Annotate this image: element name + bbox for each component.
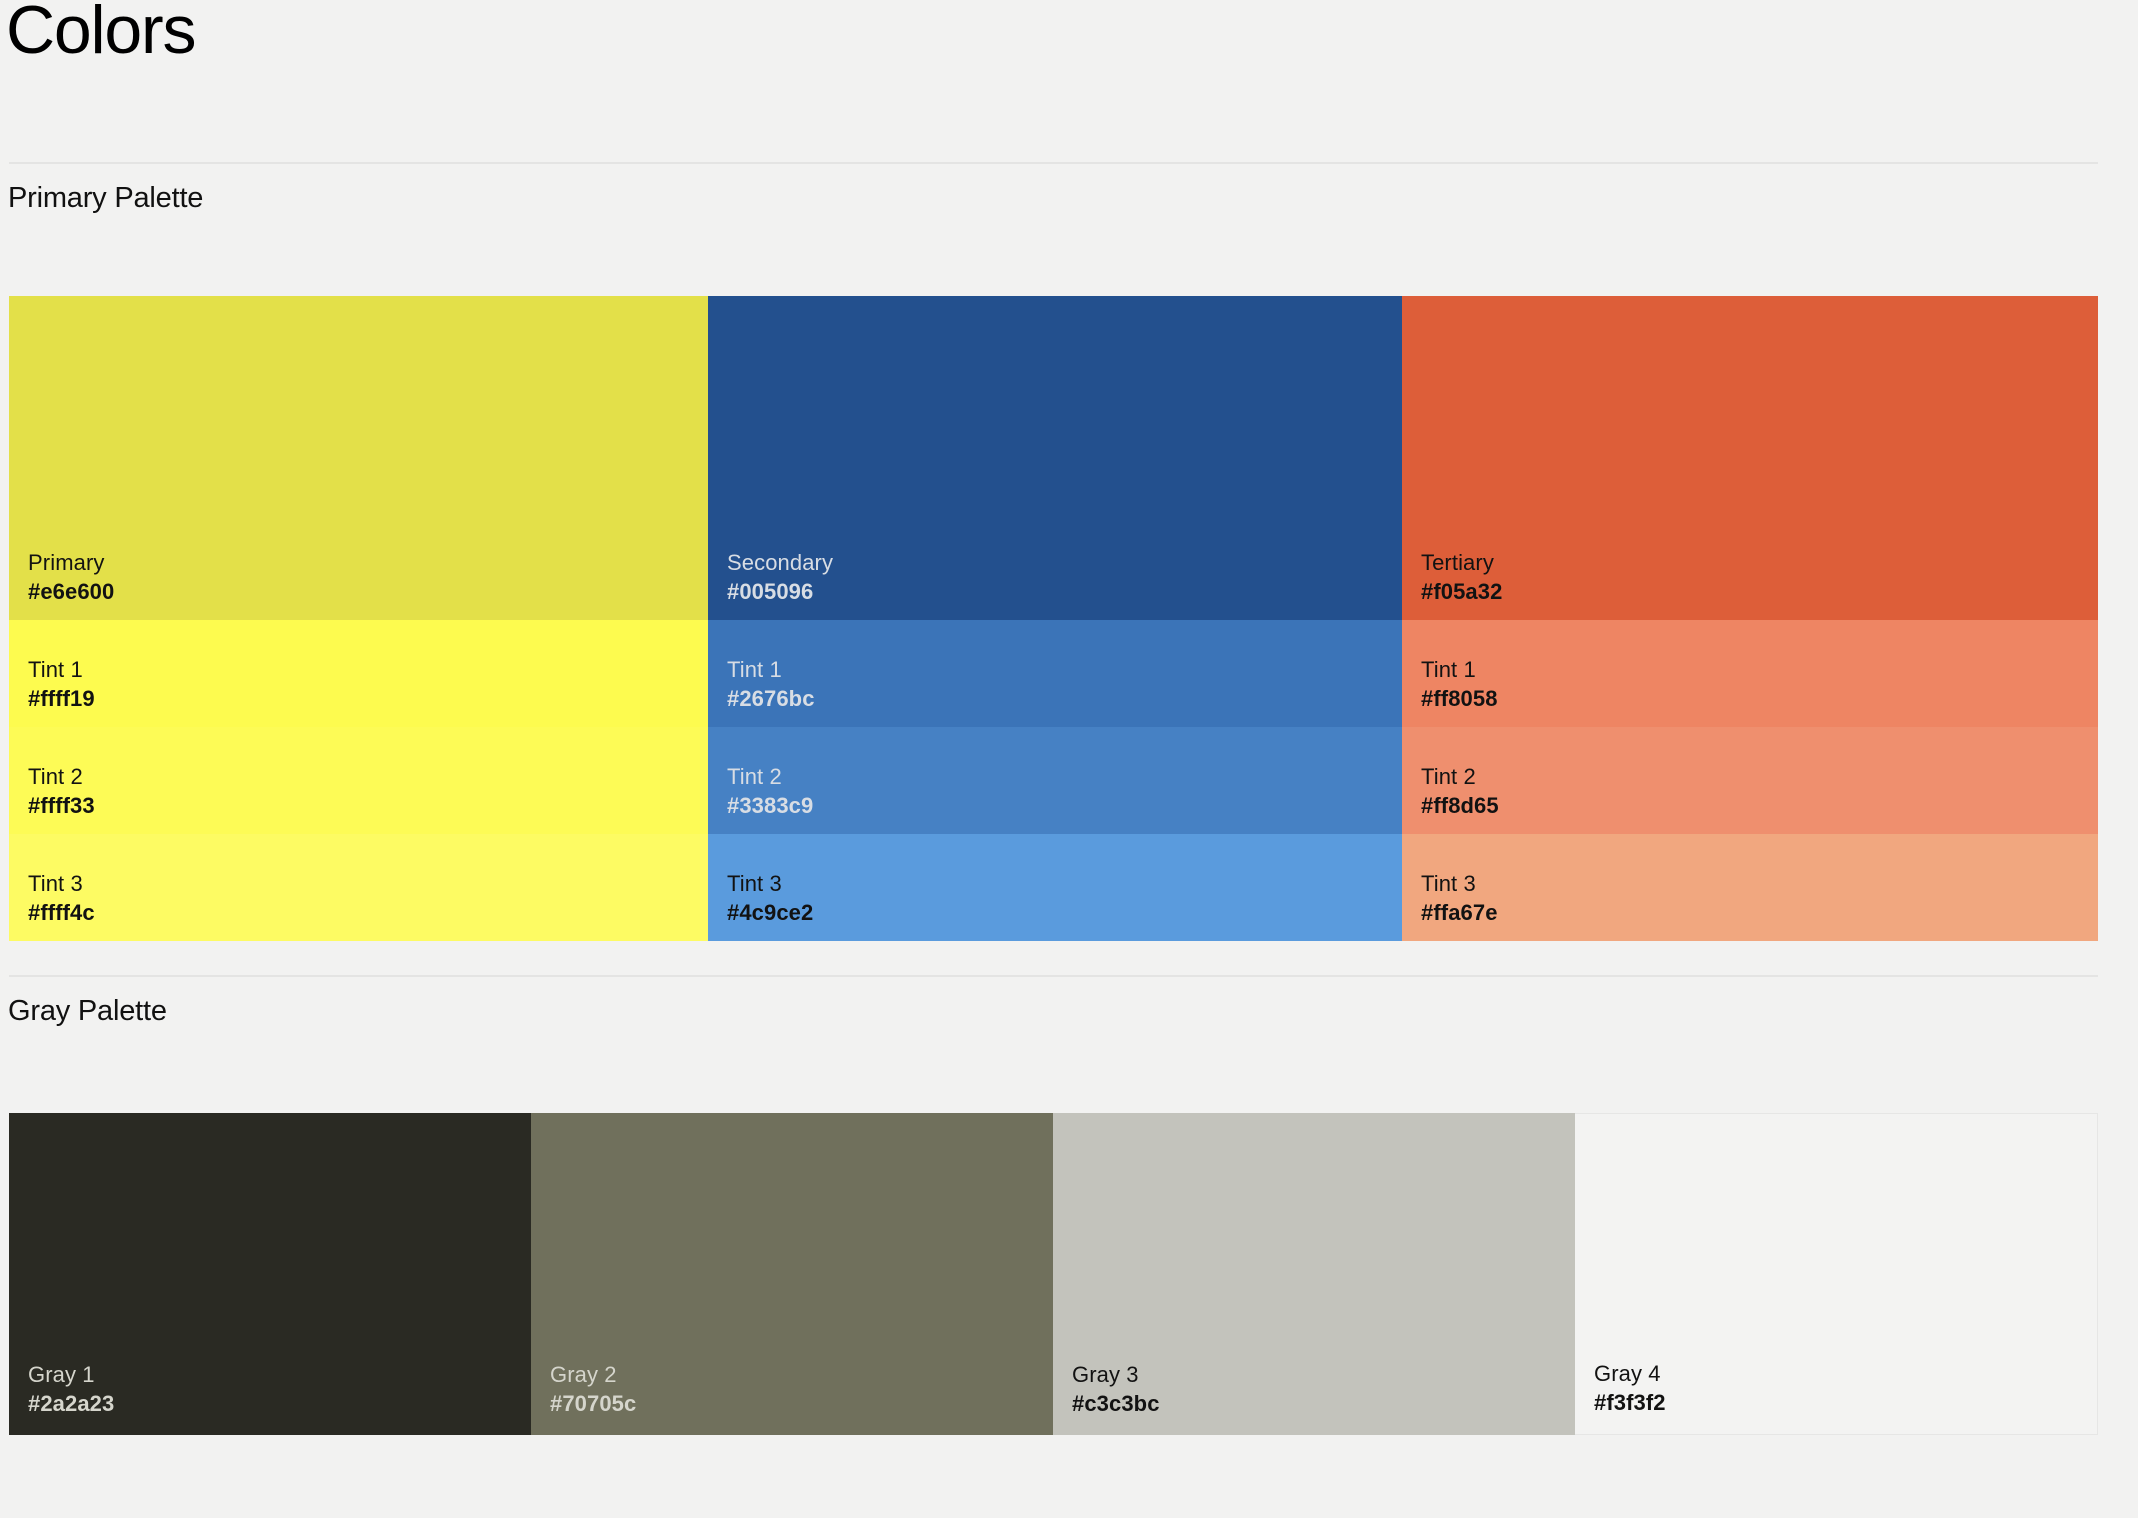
color-swatch-primary-tint-1[interactable]: Tint 1#ffff19: [9, 620, 708, 727]
swatch-hex-value: #2a2a23: [28, 1389, 531, 1418]
palette-column-secondary: Secondary#005096Tint 1#2676bcTint 2#3383…: [708, 296, 1402, 941]
color-swatch-secondary-tint-2[interactable]: Tint 2#3383c9: [708, 727, 1402, 834]
color-swatch-gray-1[interactable]: Gray 1#2a2a23: [9, 1113, 531, 1435]
color-swatch-secondary-tint-3[interactable]: Tint 3#4c9ce2: [708, 834, 1402, 941]
swatch-hex-value: #005096: [727, 577, 1402, 606]
swatch-name: Primary: [28, 548, 708, 577]
swatch-name: Tint 3: [28, 869, 708, 898]
swatch-name: Gray 1: [28, 1360, 531, 1389]
swatch-hex-value: #e6e600: [28, 577, 708, 606]
swatch-hex-value: #f3f3f2: [1594, 1388, 2097, 1417]
swatch-name: Tint 3: [727, 869, 1402, 898]
swatch-hex-value: #ff8058: [1421, 684, 2098, 713]
gray-palette-grid: Gray 1#2a2a23Gray 2#70705cGray 3#c3c3bcG…: [9, 1113, 2098, 1435]
divider-top: [9, 162, 2098, 164]
swatch-hex-value: #f05a32: [1421, 577, 2098, 606]
section-heading-primary-palette: Primary Palette: [8, 182, 203, 215]
swatch-name: Tint 3: [1421, 869, 2098, 898]
colors-style-guide-page: Colors Primary Palette Primary#e6e600Tin…: [0, 0, 2138, 1518]
section-heading-gray-palette: Gray Palette: [8, 995, 167, 1028]
color-swatch-secondary-tint-1[interactable]: Tint 1#2676bc: [708, 620, 1402, 727]
color-swatch-primary-tint-2[interactable]: Tint 2#ffff33: [9, 727, 708, 834]
swatch-name: Tint 1: [1421, 655, 2098, 684]
color-swatch-gray-2[interactable]: Gray 2#70705c: [531, 1113, 1053, 1435]
color-swatch-primary-base[interactable]: Primary#e6e600: [9, 296, 708, 620]
swatch-name: Gray 2: [550, 1360, 1053, 1389]
color-swatch-gray-3[interactable]: Gray 3#c3c3bc: [1053, 1113, 1575, 1435]
swatch-name: Tint 2: [28, 762, 708, 791]
swatch-name: Tint 2: [1421, 762, 2098, 791]
swatch-name: Secondary: [727, 548, 1402, 577]
swatch-name: Tertiary: [1421, 548, 2098, 577]
swatch-hex-value: #4c9ce2: [727, 898, 1402, 927]
palette-column-primary: Primary#e6e600Tint 1#ffff19Tint 2#ffff33…: [9, 296, 708, 941]
swatch-hex-value: #ffa67e: [1421, 898, 2098, 927]
swatch-hex-value: #ffff19: [28, 684, 708, 713]
swatch-hex-value: #ffff4c: [28, 898, 708, 927]
swatch-name: Tint 2: [727, 762, 1402, 791]
color-swatch-gray-4[interactable]: Gray 4#f3f3f2: [1575, 1113, 2098, 1435]
color-swatch-tertiary-tint-3[interactable]: Tint 3#ffa67e: [1402, 834, 2098, 941]
swatch-name: Gray 3: [1072, 1360, 1575, 1389]
swatch-hex-value: #c3c3bc: [1072, 1389, 1575, 1418]
swatch-hex-value: #3383c9: [727, 791, 1402, 820]
color-swatch-primary-tint-3[interactable]: Tint 3#ffff4c: [9, 834, 708, 941]
swatch-hex-value: #70705c: [550, 1389, 1053, 1418]
color-swatch-tertiary-base[interactable]: Tertiary#f05a32: [1402, 296, 2098, 620]
page-title: Colors: [6, 0, 195, 64]
swatch-name: Tint 1: [28, 655, 708, 684]
swatch-name: Tint 1: [727, 655, 1402, 684]
swatch-hex-value: #ff8d65: [1421, 791, 2098, 820]
color-swatch-tertiary-tint-2[interactable]: Tint 2#ff8d65: [1402, 727, 2098, 834]
palette-column-tertiary: Tertiary#f05a32Tint 1#ff8058Tint 2#ff8d6…: [1402, 296, 2098, 941]
divider-middle: [9, 975, 2098, 977]
swatch-name: Gray 4: [1594, 1359, 2097, 1388]
swatch-hex-value: #ffff33: [28, 791, 708, 820]
primary-palette-grid: Primary#e6e600Tint 1#ffff19Tint 2#ffff33…: [9, 296, 2098, 941]
color-swatch-tertiary-tint-1[interactable]: Tint 1#ff8058: [1402, 620, 2098, 727]
swatch-hex-value: #2676bc: [727, 684, 1402, 713]
color-swatch-secondary-base[interactable]: Secondary#005096: [708, 296, 1402, 620]
